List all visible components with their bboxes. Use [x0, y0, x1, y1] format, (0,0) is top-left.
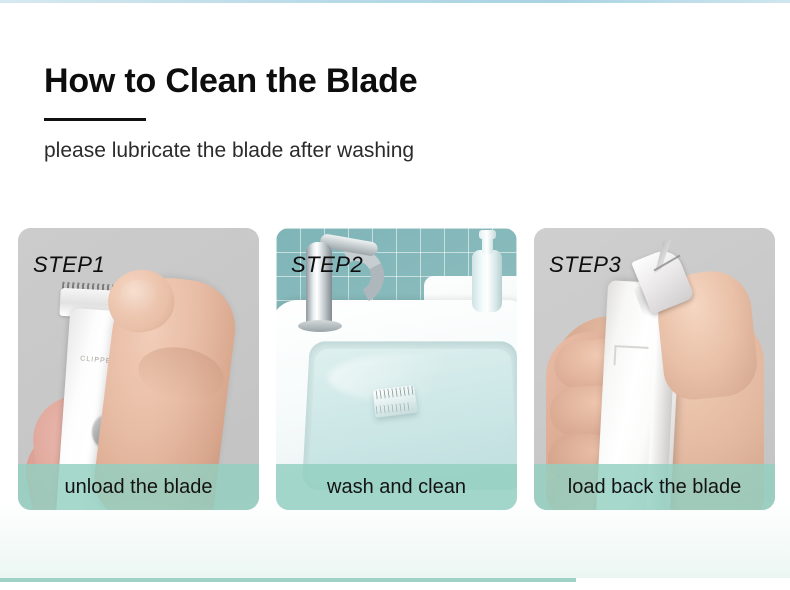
page-title: How to Clean the Blade [44, 62, 744, 101]
clipper-blade-slot [613, 345, 648, 367]
page-subtitle: please lubricate the blade after washing [44, 138, 744, 163]
step-card-3[interactable]: STEP3 load back the blade [534, 228, 775, 510]
soap-dispenser-cap [479, 230, 496, 239]
step-caption-bar-2: wash and clean [276, 464, 517, 510]
step-caption-text-1: unload the blade [65, 476, 213, 499]
step-caption-bar-3: load back the blade [534, 464, 775, 510]
step-card-1[interactable]: CLIPPER STEP1 unload the blade [18, 228, 259, 510]
step-caption-bar-1: unload the blade [18, 464, 259, 510]
title-underline [44, 118, 146, 121]
steps-gallery: CLIPPER STEP1 unload the blade [18, 228, 774, 510]
soap-dispenser-bottle [472, 250, 502, 312]
step-caption-text-2: wash and clean [327, 476, 466, 499]
top-accent-rule [0, 0, 790, 3]
step-card-2[interactable]: STEP2 wash and clean [276, 228, 517, 510]
bottom-gradient-wash [0, 500, 790, 578]
step-label-3: STEP3 [549, 252, 621, 278]
step-caption-text-3: load back the blade [568, 476, 741, 499]
step-label-1: STEP1 [33, 252, 105, 278]
step-label-2: STEP2 [291, 252, 363, 278]
bottom-accent-rule [0, 578, 576, 582]
header: How to Clean the Blade please lubricate … [44, 62, 744, 163]
